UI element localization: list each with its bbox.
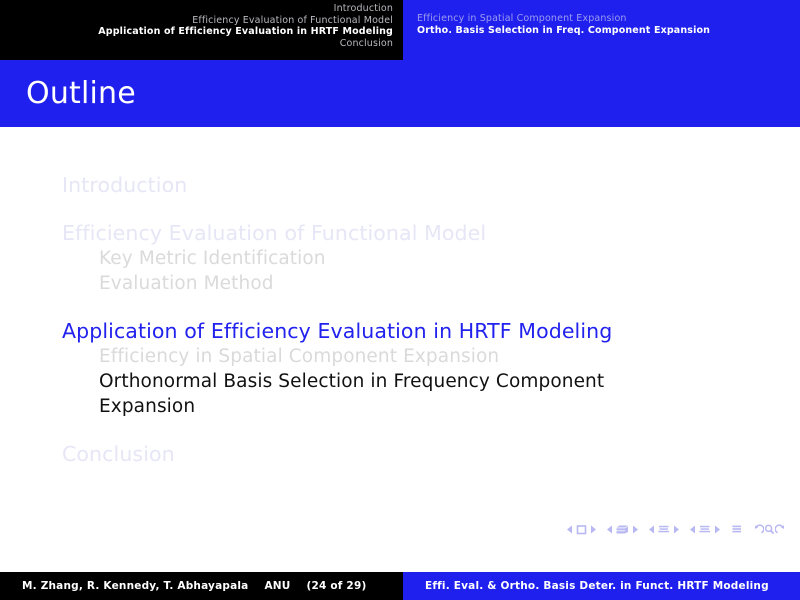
headline-section-conclusion[interactable]: Conclusion: [6, 38, 393, 50]
headline-navigation-bar: Introduction Efficiency Evaluation of Fu…: [0, 0, 800, 60]
toc-subsection-key-metric-identification[interactable]: Key Metric Identification: [99, 246, 679, 271]
prev-slide-triangle-icon[interactable]: [566, 524, 575, 535]
table-of-contents: Introduction Efficiency Evaluation of Fu…: [62, 172, 762, 467]
toc-subsection-orthonormal-basis-selection-frequency-component-expansion[interactable]: Orthonormal Basis Selection in Frequency…: [99, 369, 679, 419]
page-title: Outline: [26, 77, 136, 111]
footer-institute: ANU: [264, 580, 290, 592]
toc-section-efficiency-evaluation-functional-model[interactable]: Efficiency Evaluation of Functional Mode…: [62, 220, 762, 246]
prev-frame-triangle-icon[interactable]: [606, 524, 615, 535]
document-icon[interactable]: [730, 524, 744, 535]
toc-subsection-efficiency-spatial-component-expansion[interactable]: Efficiency in Spatial Component Expansio…: [99, 344, 679, 369]
toc-section-application-efficiency-evaluation-hrtf-modeling[interactable]: Application of Efficiency Evaluation in …: [62, 318, 762, 344]
headline-subsections-right: Efficiency in Spatial Component Expansio…: [403, 0, 800, 60]
back-forward-search-group[interactable]: [753, 524, 786, 535]
slide-square-icon[interactable]: [575, 524, 588, 535]
slide-body: Introduction Efficiency Evaluation of Fu…: [0, 127, 800, 545]
headline-sections-left: Introduction Efficiency Evaluation of Fu…: [0, 0, 403, 60]
footline-bar: M. Zhang, R. Kennedy, T. Abhayapala ANU …: [0, 572, 800, 600]
headline-subsection-ortho-basis[interactable]: Ortho. Basis Selection in Freq. Componen…: [417, 25, 794, 37]
prev-section-triangle-icon[interactable]: [689, 524, 698, 535]
beamer-navigation-symbols[interactable]: [566, 521, 786, 537]
footer-authors: M. Zhang, R. Kennedy, T. Abhayapala: [22, 580, 248, 592]
slide-navigation-group[interactable]: [566, 524, 597, 535]
footline-left: M. Zhang, R. Kennedy, T. Abhayapala ANU …: [0, 572, 403, 600]
footline-right: Effi. Eval. & Ortho. Basis Deter. in Fun…: [403, 572, 800, 600]
frame-stack-icon[interactable]: [615, 524, 630, 535]
footer-short-title: Effi. Eval. & Ortho. Basis Deter. in Fun…: [425, 580, 769, 592]
headline-subsection-spatial-expansion[interactable]: Efficiency in Spatial Component Expansio…: [417, 13, 794, 25]
next-section-triangle-icon[interactable]: [712, 524, 721, 535]
presentation-slide: Introduction Efficiency Evaluation of Fu…: [0, 0, 800, 600]
search-magnifier-icon[interactable]: [764, 524, 775, 535]
next-frame-triangle-icon[interactable]: [630, 524, 639, 535]
toc-section-conclusion[interactable]: Conclusion: [62, 441, 762, 467]
section-navigation-group[interactable]: [689, 524, 721, 535]
toc-subsection-evaluation-method[interactable]: Evaluation Method: [99, 271, 679, 296]
next-subsection-triangle-icon[interactable]: [671, 524, 680, 535]
document-navigation-group[interactable]: [730, 524, 744, 535]
subsection-lines-icon[interactable]: [657, 524, 671, 535]
footer-page-number: (24 of 29): [307, 580, 367, 592]
next-slide-triangle-icon[interactable]: [588, 524, 597, 535]
slide-title-bar: Outline: [0, 60, 800, 127]
toc-section-introduction[interactable]: Introduction: [62, 172, 762, 198]
section-lines-icon[interactable]: [698, 524, 712, 535]
frame-navigation-group[interactable]: [606, 524, 639, 535]
back-arrow-icon[interactable]: [753, 524, 764, 535]
forward-arrow-icon[interactable]: [775, 524, 786, 535]
subsection-navigation-group[interactable]: [648, 524, 680, 535]
headline-section-application-hrtf[interactable]: Application of Efficiency Evaluation in …: [6, 26, 393, 38]
prev-subsection-triangle-icon[interactable]: [648, 524, 657, 535]
headline-section-efficiency-eval[interactable]: Efficiency Evaluation of Functional Mode…: [6, 15, 393, 27]
headline-section-introduction[interactable]: Introduction: [6, 3, 393, 15]
